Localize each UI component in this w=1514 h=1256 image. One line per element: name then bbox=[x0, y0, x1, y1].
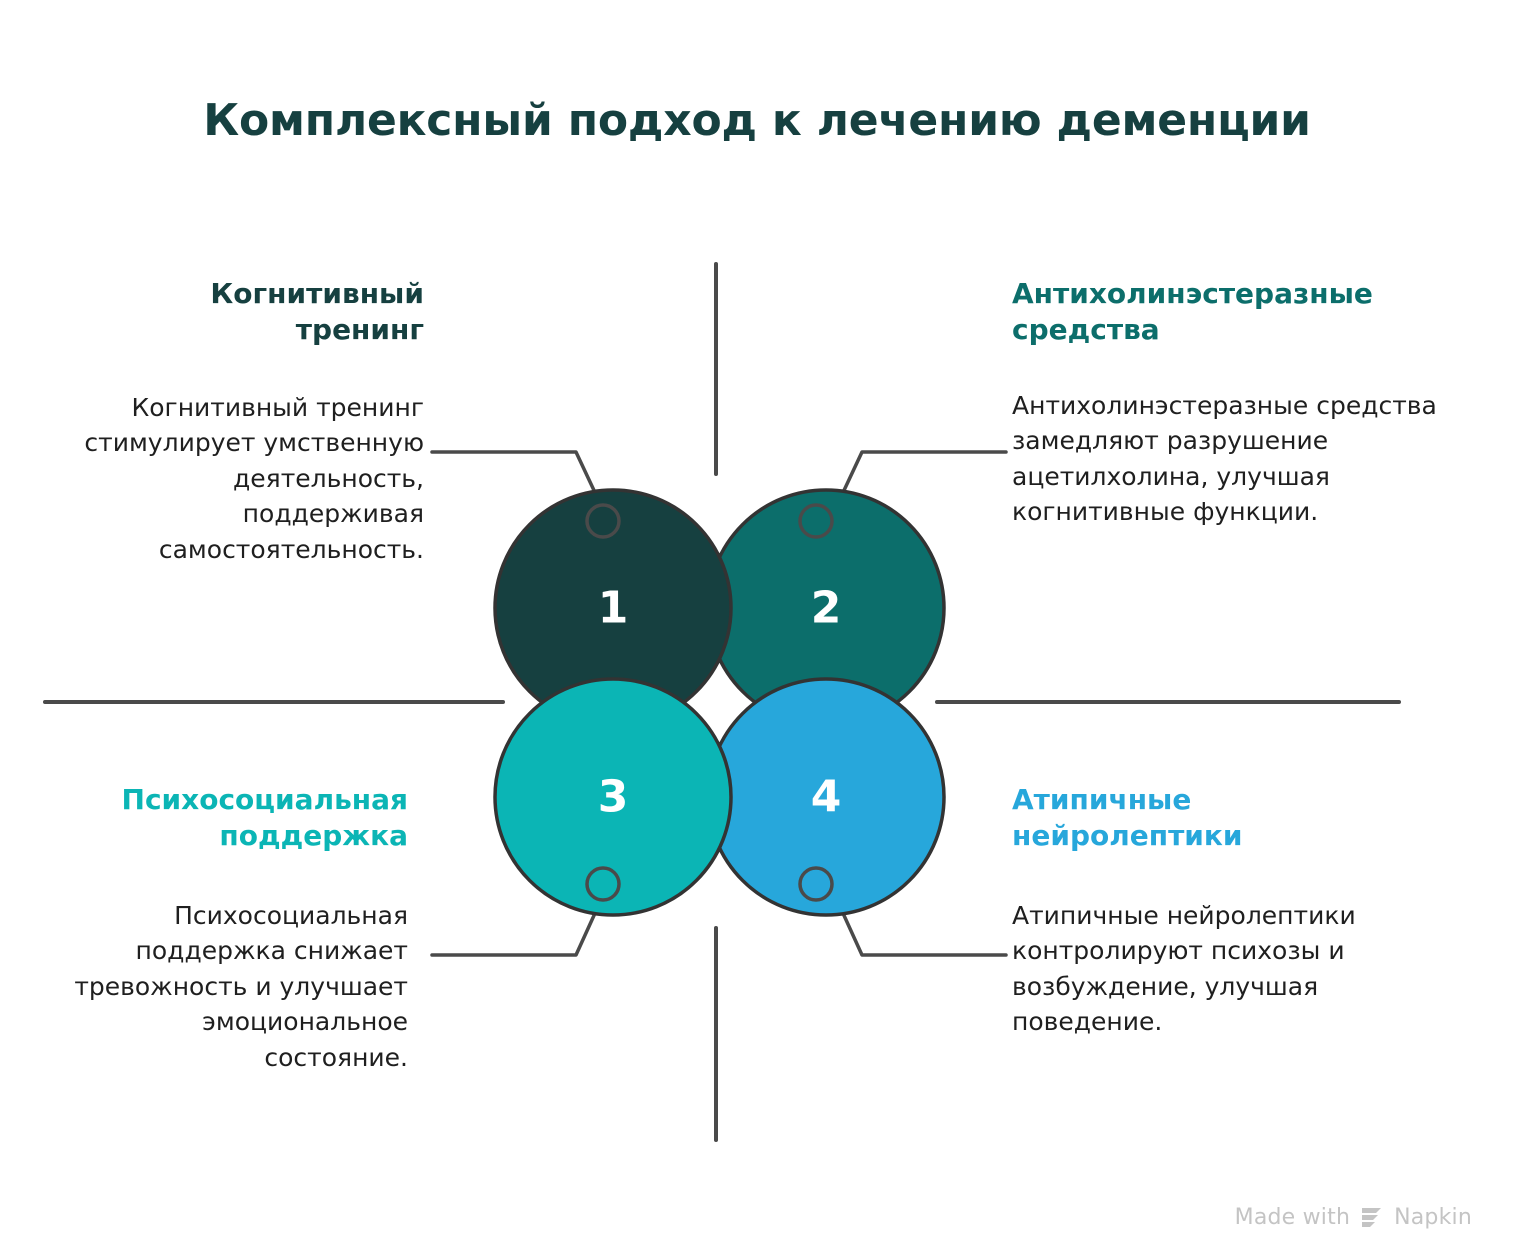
watermark-made-with-label: Made with bbox=[1235, 1205, 1350, 1230]
divider-bottom-vertical bbox=[714, 926, 718, 1142]
watermark: Made with Napkin bbox=[1235, 1205, 1472, 1230]
quadrant-block-2: Антихолинэстеразные средства Антихолинэс… bbox=[1012, 276, 1450, 530]
quadrant-heading-1: Когнитивный тренинг bbox=[84, 276, 424, 348]
page-title: Комплексный подход к лечению деменции bbox=[0, 96, 1514, 147]
quadrant-block-3: Психосоциальная поддержка Психосоциальна… bbox=[66, 782, 408, 1075]
divider-right-horizontal bbox=[935, 700, 1401, 704]
infographic-canvas: Комплексный подход к лечению деменции 1 … bbox=[0, 0, 1514, 1256]
watermark-brand-label: Napkin bbox=[1394, 1205, 1472, 1230]
circle-node-4[interactable] bbox=[708, 679, 944, 915]
divider-top-vertical bbox=[714, 262, 718, 476]
napkin-logo-icon bbox=[1359, 1206, 1385, 1230]
quadrant-body-4: Атипичные нейролептики контролируют псих… bbox=[1012, 898, 1372, 1040]
circle-node-3[interactable] bbox=[495, 679, 731, 915]
quadrant-heading-2: Антихолинэстеразные средства bbox=[1012, 276, 1450, 348]
quadrant-body-2: Антихолинэстеразные средства замедляют р… bbox=[1012, 388, 1450, 530]
quadrant-body-3: Психосоциальная поддержка снижает тревож… bbox=[66, 898, 408, 1076]
quadrant-heading-3: Психосоциальная поддержка bbox=[66, 782, 408, 854]
quadrant-block-1: Когнитивный тренинг Когнитивный тренинг … bbox=[84, 276, 424, 567]
leader-lines bbox=[432, 452, 1006, 955]
quadrant-block-4: Атипичные нейролептики Атипичные нейроле… bbox=[1012, 782, 1372, 1040]
quadrant-body-1: Когнитивный тренинг стимулирует умственн… bbox=[84, 390, 424, 568]
quadrant-heading-4: Атипичные нейролептики bbox=[1012, 782, 1372, 854]
divider-left-horizontal bbox=[43, 700, 505, 704]
